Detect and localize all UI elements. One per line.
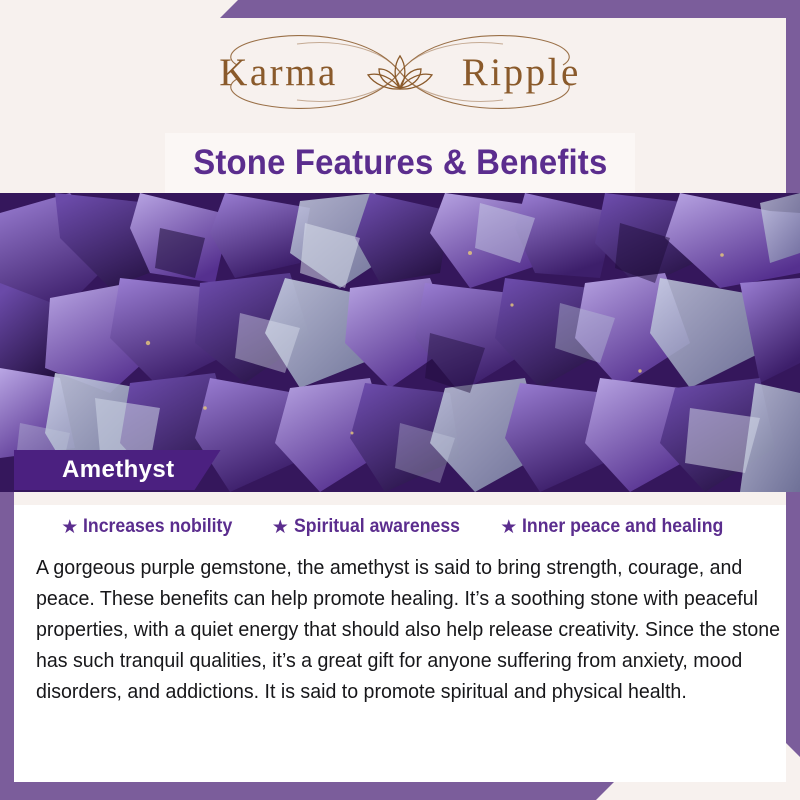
page-title: Stone Features & Benefits — [193, 143, 607, 183]
benefit-label: Inner peace and healing — [522, 516, 723, 538]
benefit-label: Increases nobility — [83, 516, 232, 538]
benefit-item: ★ Increases nobility — [61, 516, 244, 538]
decorative-band-left — [0, 490, 14, 800]
benefit-label: Spiritual awareness — [294, 516, 460, 538]
content-panel: ★ Increases nobility ★ Spiritual awarene… — [14, 505, 786, 782]
lotus-icon — [363, 50, 437, 98]
stone-description: A gorgeous purple gemstone, the amethyst… — [36, 552, 781, 707]
star-icon: ★ — [61, 518, 78, 537]
benefit-item: ★ Spiritual awareness — [272, 516, 473, 538]
amethyst-crystal-illustration — [0, 193, 800, 492]
benefits-list: ★ Increases nobility ★ Spiritual awarene… — [14, 505, 786, 538]
star-icon: ★ — [272, 518, 289, 537]
brand-name-first: Karma — [219, 53, 338, 92]
stone-name-label: Amethyst — [14, 450, 221, 490]
brand-logo: Karma Ripple — [0, 22, 800, 122]
stone-name-text: Amethyst — [62, 456, 175, 484]
decorative-band-top — [220, 0, 800, 18]
stone-hero-image — [0, 193, 800, 492]
benefit-item: ★ Inner peace and healing — [500, 516, 739, 538]
brand-name-second: Ripple — [462, 53, 581, 92]
decorative-band-bottom — [0, 782, 614, 800]
product-info-card: Karma Ripple Stone Features & Benefits — [0, 0, 800, 800]
title-banner: Stone Features & Benefits — [165, 133, 635, 193]
star-icon: ★ — [500, 518, 517, 537]
